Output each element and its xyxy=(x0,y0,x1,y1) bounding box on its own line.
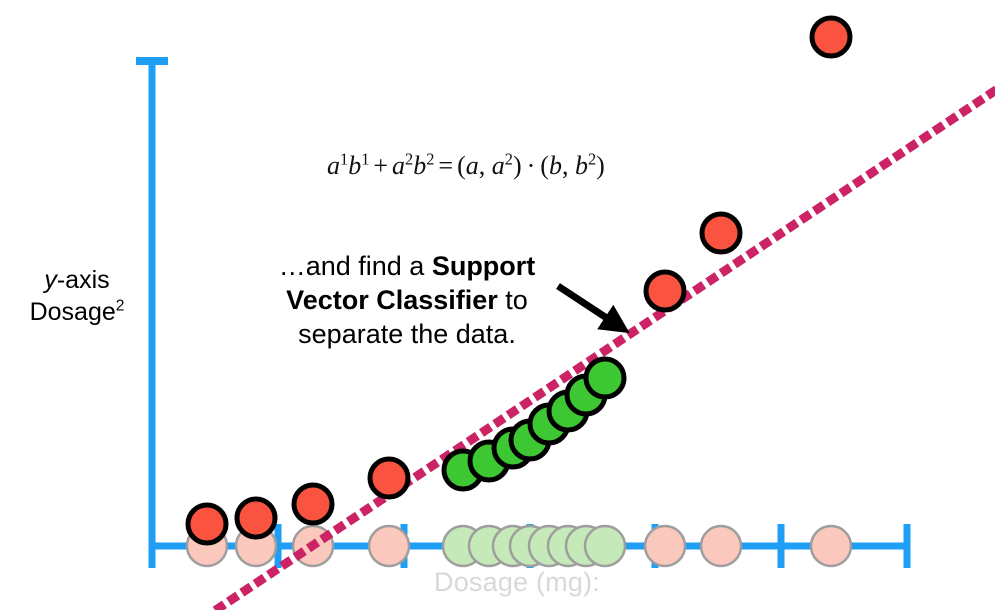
x-axis-ghost-point xyxy=(645,526,685,566)
formula-a1-base: a xyxy=(327,151,340,180)
formula-vec1-a: a xyxy=(466,151,479,180)
formula-a1-exp: 1 xyxy=(340,149,348,168)
red-data-point xyxy=(370,459,408,497)
x-axis-ghost-point xyxy=(369,526,409,566)
dot-product-formula: a1b1+a2b2=(a, a2)·(b, b2) xyxy=(327,151,605,181)
red-data-point xyxy=(812,18,850,56)
figure-canvas: y-axis Dosage2 Dosage (mg): a1b1+a2b2=(a… xyxy=(0,0,995,610)
annotation-line2-bold: Vector Classifier xyxy=(286,285,498,315)
formula-vec2-b: b xyxy=(549,151,562,180)
red-data-point xyxy=(237,499,275,537)
annotation-line1-bold: Support xyxy=(432,251,535,281)
formula-vec1-a2-exp: 2 xyxy=(505,149,513,168)
green-data-points xyxy=(444,359,624,489)
y-axis-label-dosage: Dosage xyxy=(30,298,116,326)
formula-b2-base: b xyxy=(413,151,426,180)
red-data-point xyxy=(188,505,226,543)
x-axis-label: Dosage (mg): xyxy=(434,566,600,598)
annotation-arrow-icon xyxy=(558,286,615,323)
formula-plus: + xyxy=(369,151,392,180)
formula-vec2-b2-exp: 2 xyxy=(588,149,596,168)
y-axis-label: y-axis Dosage2 xyxy=(18,264,136,328)
x-axis-ghost-green-points xyxy=(443,526,625,566)
formula-open-paren-2: ( xyxy=(540,151,549,180)
formula-a2-exp: 2 xyxy=(405,149,413,168)
x-axis-ghost-point xyxy=(701,526,741,566)
red-data-point xyxy=(702,214,740,252)
annotation-line1-lead: …and find a xyxy=(279,251,432,281)
y-axis-label-line1: y-axis xyxy=(18,264,136,296)
y-axis-label-italic: y xyxy=(44,266,57,294)
formula-comma-1: , xyxy=(479,151,486,180)
y-axis-label-rest: -axis xyxy=(57,266,110,294)
formula-close-paren-2: ) xyxy=(596,151,605,180)
formula-comma-2: , xyxy=(562,151,569,180)
formula-vec1-a2-base: a xyxy=(492,151,505,180)
annotation-line2-tail: to xyxy=(498,285,528,315)
formula-vec2-b2-base: b xyxy=(575,151,588,180)
y-axis-label-line2: Dosage2 xyxy=(18,296,136,328)
formula-a2-base: a xyxy=(392,151,405,180)
formula-equals: = xyxy=(434,151,457,180)
formula-b1-base: b xyxy=(348,151,361,180)
formula-dot-operator: · xyxy=(522,151,541,180)
x-axis-ghost-point xyxy=(811,526,851,566)
formula-close-paren-1: ) xyxy=(513,151,522,180)
y-axis-label-exponent: 2 xyxy=(116,298,125,315)
green-data-point xyxy=(586,359,624,397)
annotation-line3: separate the data. xyxy=(298,319,516,349)
annotation-text: …and find a Support Vector Classifier to… xyxy=(252,249,562,351)
formula-open-paren-1: ( xyxy=(457,151,466,180)
red-data-point xyxy=(646,272,684,310)
x-axis-ghost-point xyxy=(585,526,625,566)
red-data-point xyxy=(294,485,332,523)
